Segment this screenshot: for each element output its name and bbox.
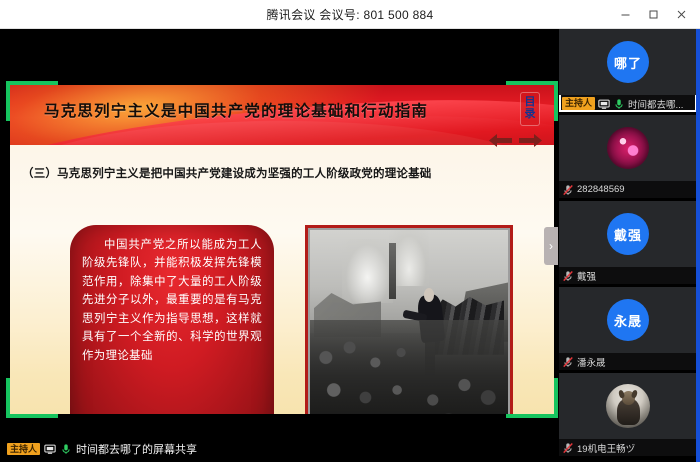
tencent-meeting-window: 腾讯会议 会议号: 801 500 884 马克思列宁主义是中国共产党的理论基础… (0, 0, 700, 462)
participant-tile[interactable]: 永晟潘永晟 (559, 287, 697, 370)
microphone-muted-icon (562, 442, 574, 454)
status-host-badge: 主持人 (7, 443, 40, 455)
participant-tile[interactable]: 282848569 (559, 115, 697, 198)
participant-tile[interactable]: 19机电王畅ヅ (559, 373, 697, 456)
participant-name: 戴强 (577, 269, 694, 283)
participant-video-area: 戴强 (559, 201, 697, 267)
meeting-stage: 马克思列宁主义是中国共产党的理论基础和行动指南 目 录 （三）马克思列宁主义是把… (0, 29, 700, 462)
slide-card-paragraph: 中国共产党之所以能成为工人阶级先锋队，并能积极发挥先锋模范作用，除集中了大量的工… (82, 236, 262, 365)
participant-info-bar: 戴强 (559, 267, 697, 284)
slide-photo-frame (305, 225, 513, 414)
slide-subtitle: （三）马克思列宁主义是把中国共产党建设成为坚强的工人阶级政党的理论基础 (22, 165, 542, 181)
avatar-dog-ear-right (631, 390, 638, 399)
participant-video-area (559, 115, 697, 181)
photo-crowd (310, 320, 508, 414)
window-controls (612, 0, 694, 29)
participant-video-area (559, 373, 697, 439)
participant-info-bar: 282848569 (559, 181, 697, 198)
window-titlebar: 腾讯会议 会议号: 801 500 884 (0, 0, 700, 29)
avatar (607, 127, 649, 169)
microphone-icon (613, 98, 625, 110)
screen-share-icon (44, 443, 56, 455)
collapse-panel-handle[interactable]: › (544, 227, 558, 265)
screen-share-icon (598, 98, 610, 110)
avatar: 永晟 (607, 299, 649, 341)
participant-video-area: 永晟 (559, 287, 697, 353)
share-border-bottom-right-h (506, 414, 558, 418)
microphone-muted-icon (562, 184, 574, 196)
participant-info-bar: 潘永晟 (559, 353, 697, 370)
prev-slide-arrow[interactable] (489, 133, 513, 148)
photo-speaker-head (424, 288, 434, 302)
share-border-bottom-left-h (6, 414, 58, 418)
window-title: 腾讯会议 会议号: 801 500 884 (266, 6, 433, 23)
photo-chimney (389, 243, 396, 299)
participant-name: 潘永晟 (577, 355, 694, 369)
ribbon-cream-curve (10, 121, 554, 145)
participant-info-bar: 19机电王畅ヅ (559, 439, 697, 456)
microphone-muted-icon (562, 356, 574, 368)
powerpoint-slide: 马克思列宁主义是中国共产党的理论基础和行动指南 目 录 （三）马克思列宁主义是把… (10, 85, 554, 414)
participant-tile[interactable]: 戴强戴强 (559, 201, 697, 284)
close-icon[interactable] (668, 4, 694, 26)
participant-name: 19机电王畅ヅ (577, 441, 694, 455)
microphone-muted-icon (562, 270, 574, 282)
slide-navigation (489, 133, 542, 148)
maximize-icon[interactable] (640, 4, 666, 26)
next-slide-arrow[interactable] (518, 133, 542, 148)
avatar: 戴强 (607, 213, 649, 255)
participant-info-bar: 主持人时间都去哪... (559, 95, 697, 112)
host-badge: 主持人 (562, 97, 595, 109)
participant-name: 282848569 (577, 184, 694, 195)
share-border-top-left-h (6, 81, 58, 85)
share-border-bottom-left-v (6, 378, 10, 418)
status-share-text: 时间都去哪了的屏幕共享 (76, 441, 197, 457)
table-of-contents-button[interactable]: 目 录 (520, 92, 540, 126)
participant-name: 时间都去哪... (628, 97, 694, 111)
share-border-top-left-v (6, 81, 10, 121)
slide-title: 马克思列宁主义是中国共产党的理论基础和行动指南 (44, 99, 494, 121)
participants-scrollbar[interactable] (696, 29, 700, 462)
slide-red-text-card: 中国共产党之所以能成为工人阶级先锋队，并能积极发挥先锋模范作用，除集中了大量的工… (70, 225, 274, 414)
avatar: 哪了 (607, 41, 649, 83)
minimize-icon[interactable] (612, 4, 638, 26)
share-border-top-right-h (506, 81, 558, 85)
participants-panel[interactable]: 哪了主持人时间都去哪...282848569戴强戴强永晟潘永晟19机电王畅ヅ (558, 29, 698, 462)
avatar (606, 384, 650, 428)
photo-smoke-left (342, 239, 393, 304)
participant-video-area: 哪了 (559, 29, 697, 95)
screen-share-statusbar: 主持人 时间都去哪了的屏幕共享 (0, 436, 558, 462)
shared-screen-content[interactable]: 马克思列宁主义是中国共产党的理论基础和行动指南 目 录 （三）马克思列宁主义是把… (10, 85, 554, 414)
toc-label-2: 录 (525, 109, 536, 121)
microphone-icon (60, 443, 72, 455)
lenin-speech-photo (310, 230, 508, 414)
participant-tile[interactable]: 哪了主持人时间都去哪... (559, 29, 697, 112)
